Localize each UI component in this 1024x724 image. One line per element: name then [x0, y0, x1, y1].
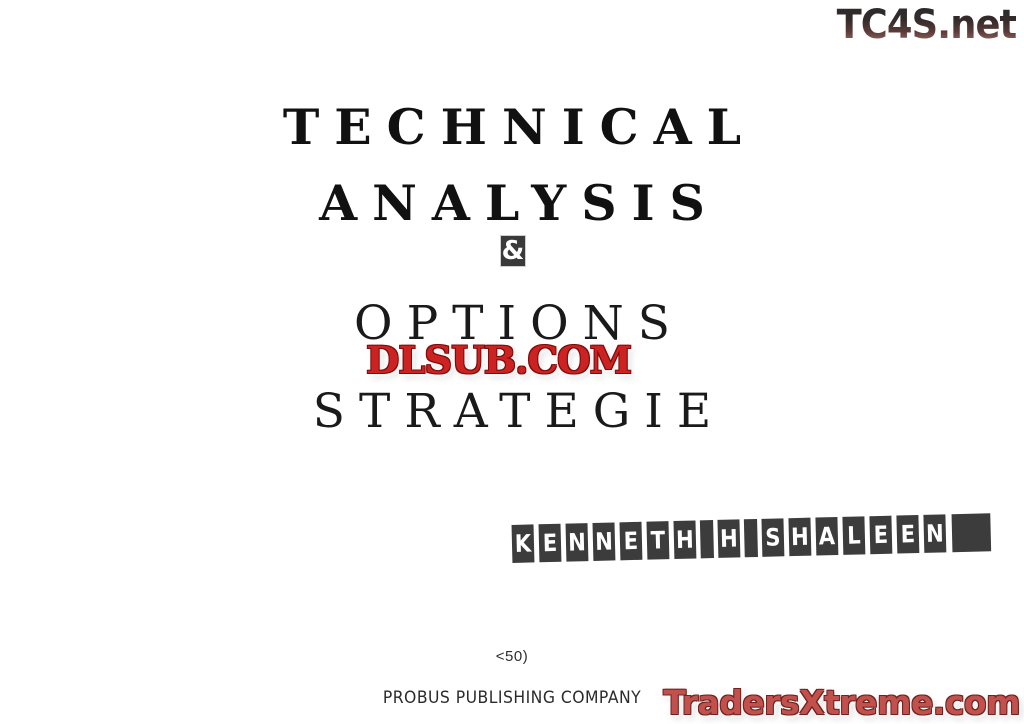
- author-tile-h: H: [788, 518, 811, 557]
- author-tile-l: L: [842, 516, 865, 555]
- author-tile-n: N: [592, 522, 615, 561]
- author-tile-e: E: [896, 515, 919, 554]
- author-tile-h: H: [717, 519, 740, 558]
- author-tile-spacer: [700, 520, 714, 558]
- author-tile-e: E: [869, 516, 892, 555]
- author-tile-h: H: [673, 520, 696, 559]
- watermark-tradersxtreme: TradersXtreme.com: [663, 684, 1020, 722]
- title-line-analysis: ANALYSIS: [0, 174, 1024, 232]
- author-tile-spacer: [744, 519, 758, 557]
- subtitle-line-strategie: STRATEGIE: [0, 384, 1024, 439]
- watermark-tc4s: TC4S.net: [836, 2, 1016, 48]
- ampersand-container: &: [0, 236, 1024, 266]
- author-tile-n: N: [566, 523, 589, 562]
- watermark-dlsub: DLSUB.COM: [366, 340, 631, 380]
- ampersand-glyph: &: [501, 236, 525, 266]
- publisher-logo-mark: <50): [0, 648, 1024, 665]
- author-tile-e: E: [619, 522, 642, 561]
- author-tile-t: T: [646, 521, 669, 560]
- author-tile-s: S: [761, 518, 784, 557]
- author-name-bar: KENNETH H SHALEEN: [510, 512, 994, 564]
- book-cover-page: TC4S.net TECHNICAL ANALYSIS & OPTIONS DL…: [0, 0, 1024, 724]
- author-tile-n: N: [923, 514, 946, 553]
- author-tile-a: A: [815, 517, 838, 556]
- title-line-technical: TECHNICAL: [0, 98, 1024, 156]
- author-tile-spacer: [952, 513, 992, 552]
- author-tile-e: E: [539, 524, 562, 563]
- author-tile-k: K: [512, 524, 535, 563]
